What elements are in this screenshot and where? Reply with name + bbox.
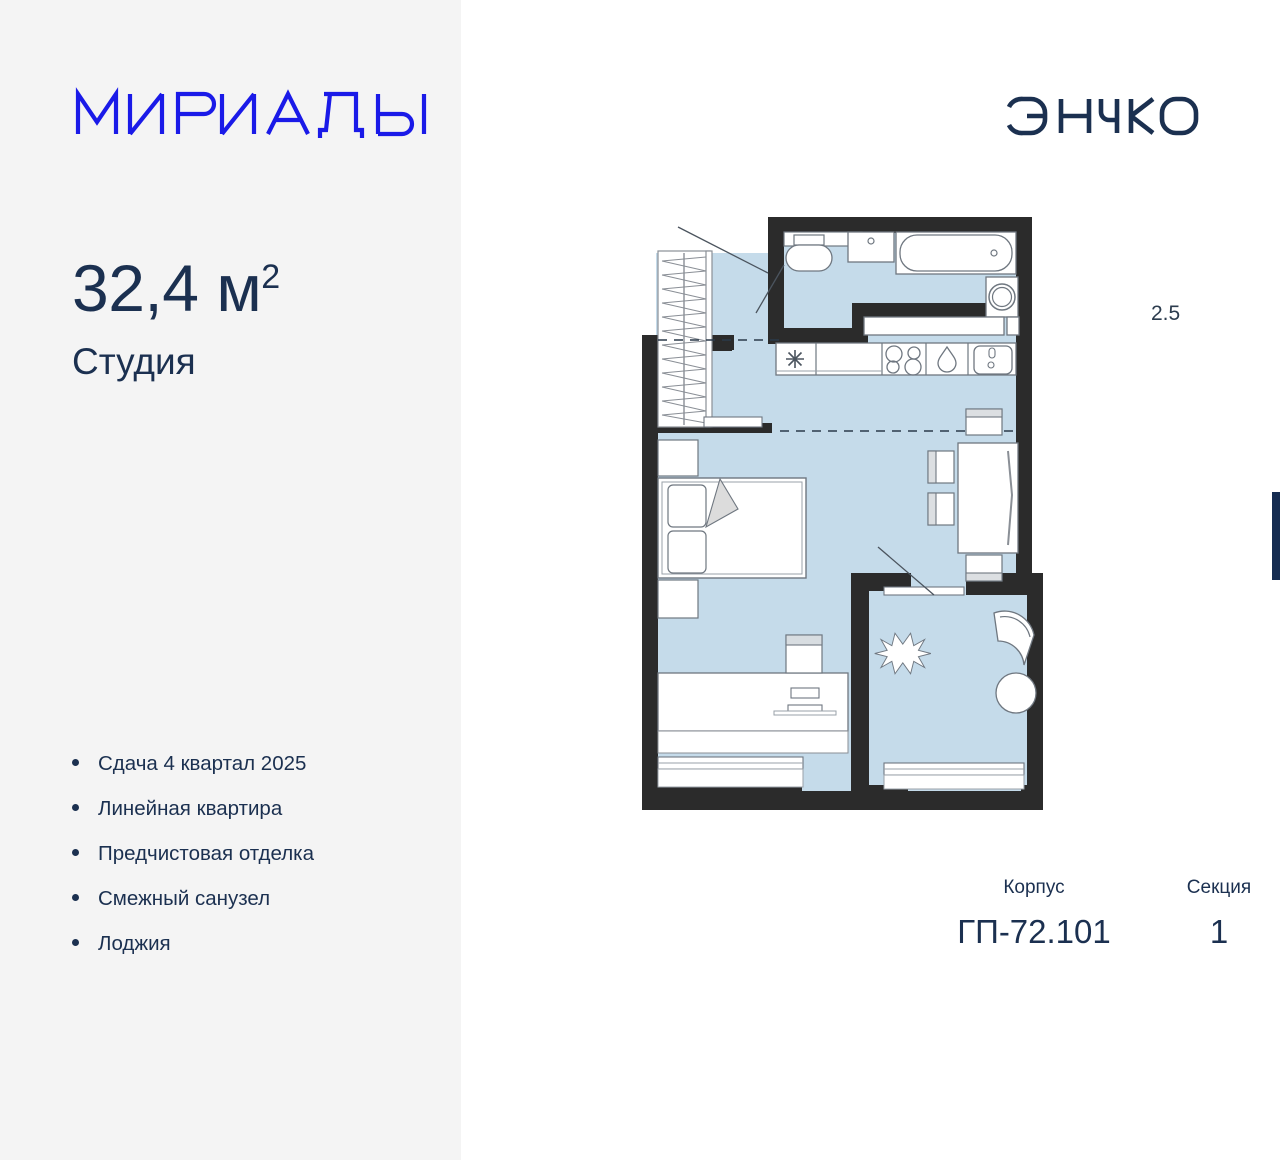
specs-row: Корпус ГП-72.101 Секция 1 Этаж 2 из 25 В… bbox=[923, 878, 1280, 948]
feature-label: Смежный санузел bbox=[98, 887, 270, 911]
floor-plan-drawing bbox=[616, 195, 1066, 810]
feature-label: Лоджия bbox=[98, 932, 171, 956]
spec-section: Секция 1 bbox=[1145, 878, 1280, 948]
status-badge: С 32.40 bbox=[1272, 492, 1280, 580]
area-number: 32,4 bbox=[72, 251, 198, 325]
floor-plan-page: 32,4 м2 Студия Сдача 4 квартал 2025 Лине… bbox=[0, 0, 1280, 1160]
feature-label: Предчистовая отделка bbox=[98, 842, 314, 866]
bullet-icon bbox=[72, 759, 79, 766]
info-panel: 32,4 м2 Студия Сдача 4 квартал 2025 Лине… bbox=[0, 0, 461, 1160]
feature-label: Линейная квартира bbox=[98, 797, 282, 821]
feature-label: Сдача 4 квартал 2025 bbox=[98, 752, 306, 776]
list-item: Лоджия bbox=[72, 932, 442, 956]
area-value: 32,4 м2 bbox=[72, 255, 432, 321]
apartment-type: Студия bbox=[72, 343, 432, 380]
spec-label: Секция bbox=[1145, 878, 1280, 897]
list-item: Предчистовая отделка bbox=[72, 842, 442, 866]
bullet-icon bbox=[72, 939, 79, 946]
area-summary: 32,4 м2 Студия bbox=[72, 255, 432, 380]
area-exponent: 2 bbox=[261, 258, 279, 296]
list-item: Сдача 4 квартал 2025 bbox=[72, 752, 442, 776]
plan-panel: С 32.40 2.5 4.7 7.7 16.0 3.0 (1.5) Корпу… bbox=[461, 0, 1280, 1160]
spec-value: 1 bbox=[1145, 915, 1280, 948]
spec-building: Корпус ГП-72.101 bbox=[923, 878, 1145, 948]
miriady-logo bbox=[72, 82, 434, 140]
kitchen-units bbox=[776, 343, 1016, 375]
bullet-icon bbox=[72, 894, 79, 901]
floor-plan: С 32.40 2.5 4.7 7.7 16.0 3.0 (1.5) bbox=[461, 0, 1280, 1160]
list-item: Линейная квартира bbox=[72, 797, 442, 821]
room-area-hallway: 2.5 bbox=[1151, 302, 1180, 327]
bullet-icon bbox=[72, 804, 79, 811]
wardrobe bbox=[658, 251, 712, 427]
area-unit: м bbox=[216, 251, 261, 325]
feature-list: Сдача 4 квартал 2025 Линейная квартира П… bbox=[72, 752, 442, 977]
bullet-icon bbox=[72, 849, 79, 856]
spec-label: Корпус bbox=[923, 878, 1145, 897]
list-item: Смежный санузел bbox=[72, 887, 442, 911]
spec-value: ГП-72.101 bbox=[923, 915, 1145, 948]
